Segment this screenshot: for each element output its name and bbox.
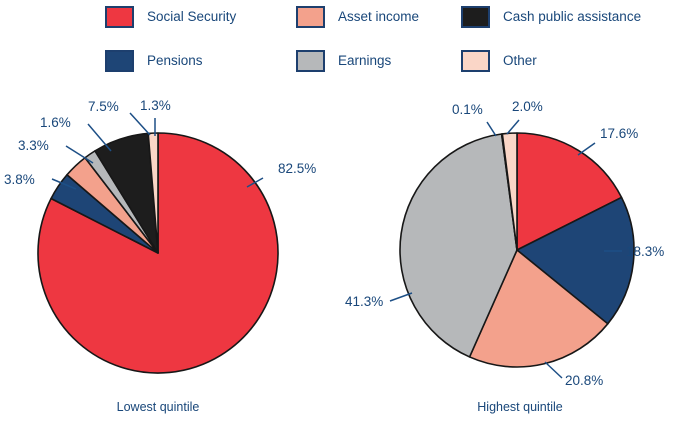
value-label-pensions: 3.8% [4,172,35,187]
value-label-earnings: 1.6% [40,115,71,130]
value-label-other: 2.0% [512,99,543,114]
value-label-asset-income: 3.3% [18,138,49,153]
value-label-social-security: 82.5% [278,161,316,176]
value-label-other: 1.3% [140,98,171,113]
value-label-cash-public-assistance: 7.5% [88,99,119,114]
value-label-pensions: 18.3% [626,244,664,259]
value-label-social-security: 17.6% [600,126,638,141]
leader-line-cash-public-assistance [130,113,150,135]
pie-charts-canvas: 82.5%3.8%3.3%1.6%7.5%1.3%17.6%18.3%20.8%… [0,0,700,428]
leader-line-earnings [88,124,111,151]
pie-caption-highest-quintile: Highest quintile [380,400,660,414]
value-label-earnings: 41.3% [345,294,383,309]
leader-line-social-security [578,143,595,155]
leader-line-other [507,120,519,134]
leader-line-earnings [390,293,412,301]
leader-line-asset-income [545,362,562,378]
pie-lowest-quintile: 82.5%3.8%3.3%1.6%7.5%1.3% [4,98,316,373]
pie-chart-figure: Social SecurityAsset incomeCash public a… [0,0,700,428]
leader-line-cash-public-assistance [487,122,496,136]
value-label-asset-income: 20.8% [565,373,603,388]
value-label-cash-public-assistance: 0.1% [452,102,483,117]
pie-caption-lowest-quintile: Lowest quintile [0,400,316,414]
pie-highest-quintile: 17.6%18.3%20.8%41.3%0.1%2.0% [345,99,664,388]
